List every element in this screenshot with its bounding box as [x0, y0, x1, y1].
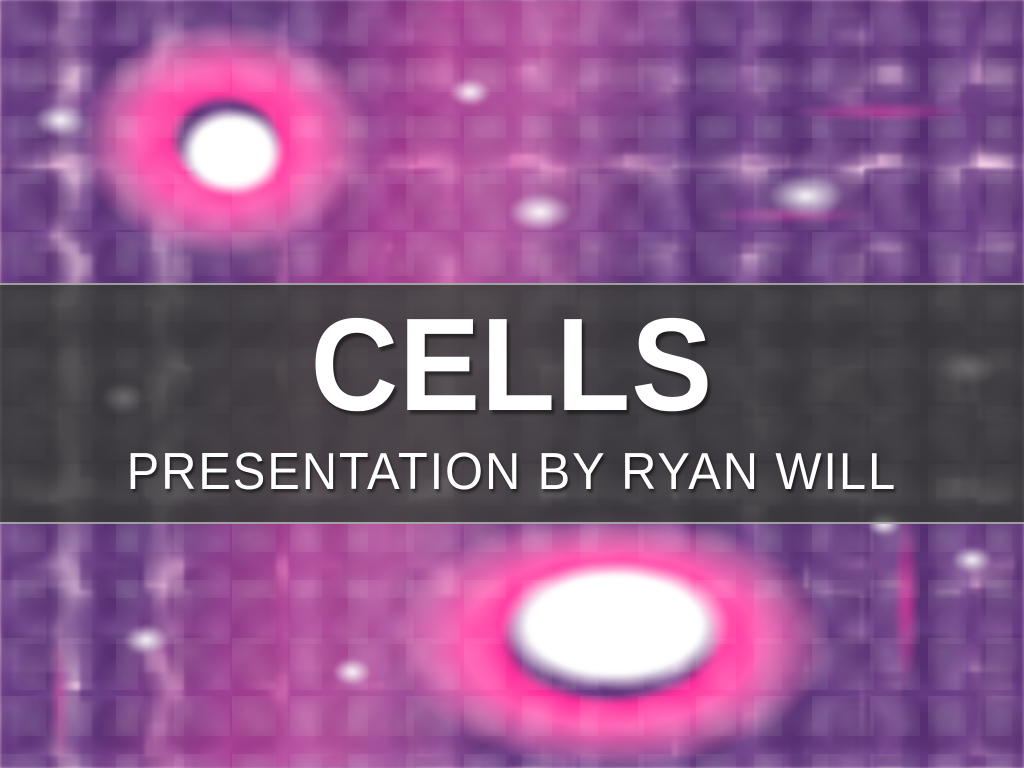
band-bottom-rule [0, 522, 1024, 524]
band-top-rule [0, 283, 1024, 285]
title-overlay-band: CELLS PRESENTATION BY RYAN WILL [0, 283, 1024, 524]
slide-title: CELLS [311, 307, 714, 423]
presentation-title-slide: CELLS PRESENTATION BY RYAN WILL [0, 0, 1024, 768]
slide-subtitle: PRESENTATION BY RYAN WILL [127, 445, 897, 500]
